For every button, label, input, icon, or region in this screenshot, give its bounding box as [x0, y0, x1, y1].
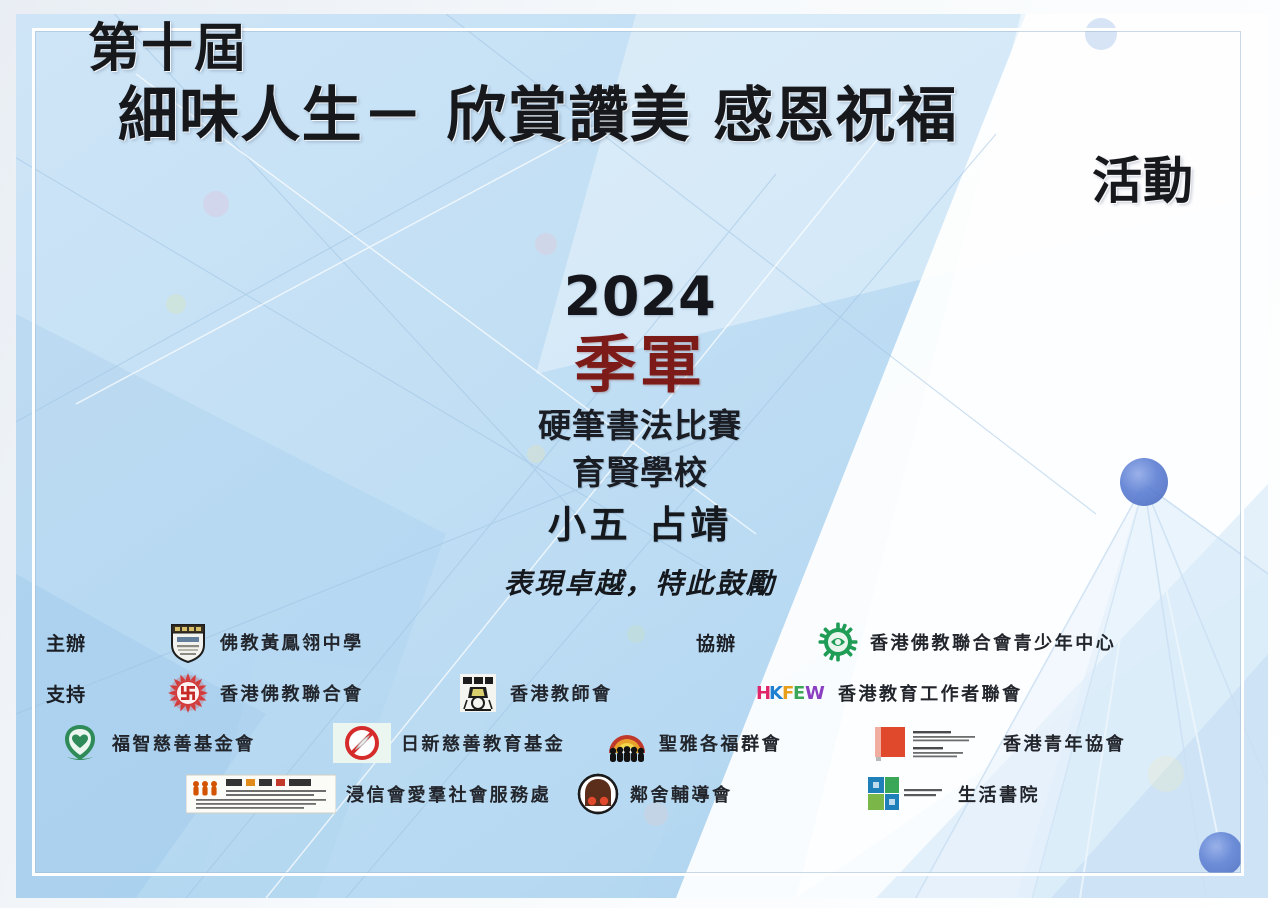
sponsor-logo-cell-hkfew: H K F E W 香港教育工作者聯會 — [756, 672, 1136, 714]
teachers-association-crest-logo — [456, 672, 500, 714]
sponsor-name-hkfyg: 香港青年協會 — [1003, 730, 1126, 756]
green-heart-shield-logo — [58, 722, 102, 764]
red-wheel-emblem-logo — [166, 672, 210, 714]
certificate-image: 第十屆 細味人生－ 欣賞讚美 感恩祝福 活動 2024 季軍 硬筆書法比賽 育賢… — [0, 0, 1280, 908]
sponsor-row-organizers: 主辦 佛教黃鳳 — [46, 616, 1236, 668]
headline-line-edition: 第十屆 — [88, 22, 1216, 77]
sponsor-role-organizer-cell: 主辦 — [46, 629, 166, 656]
svg-text:W: W — [805, 683, 825, 704]
headline-line-theme: 細味人生－ 欣賞讚美 感恩祝福 — [118, 85, 1216, 149]
sponsor-row-supporters-2: 福智慈善基金會 日新慈善教育基金 — [46, 718, 1236, 768]
sponsor-logo-cell-bwfl: 佛教黃鳳翎中學 — [166, 621, 266, 663]
sponsor-name-hkbayc: 香港佛教聯合會青少年中心 — [870, 629, 1116, 655]
sponsor-role-coorganizer-label: 協辦 — [696, 629, 754, 656]
sponsor-name-hkba: 香港佛教聯合會 — [220, 680, 364, 706]
sponsor-name-sjs: 聖雅各福群會 — [659, 730, 782, 756]
sponsor-logo-cell-hkta: 香港教師會 — [456, 672, 756, 714]
sponsor-name-bwfl: 佛教黃鳳翎中學 — [220, 629, 364, 655]
sponsor-name-hkta: 香港教師會 — [510, 680, 613, 706]
red-ring-slash-logo — [333, 722, 391, 764]
shield-crest-logo — [166, 621, 210, 663]
svg-text:E: E — [793, 683, 805, 704]
sponsor-name-naac: 鄰舍輔導會 — [630, 781, 733, 807]
sponsor-name-yat-sun: 日新慈善教育基金 — [401, 730, 565, 756]
award-block: 2024 季軍 硬筆書法比賽 育賢學校 小五 占靖 表現卓越，特此鼓勵 — [0, 270, 1280, 602]
award-school-name: 育賢學校 — [0, 450, 1280, 497]
certificate-headline: 第十屆 細味人生－ 欣賞讚美 感恩祝福 活動 — [0, 22, 1280, 208]
award-winner-name: 小五 占靖 — [0, 499, 1280, 552]
hkfew-wordmark-logo: H K F E W — [756, 672, 828, 714]
sponsor-logo-cell-bokss: 浸信會愛羣社會服務處 — [186, 773, 576, 815]
headline-line-activity: 活動 — [64, 155, 1216, 208]
sponsor-role-organizer-label: 主辦 — [46, 629, 104, 656]
sponsor-name-bwmf: 福智慈善基金會 — [112, 730, 256, 756]
award-rank: 季軍 — [0, 330, 1280, 399]
sponsor-row-supporters-3: 浸信會愛羣社會服務處 鄰舍輔導會 — [46, 768, 1236, 820]
sponsor-name-bokss: 浸信會愛羣社會服務處 — [346, 781, 551, 807]
sponsor-role-support-cell: 支持 — [46, 680, 166, 707]
sponsor-logo-cell-bwmf: 福智慈善基金會 — [58, 722, 333, 764]
hkfyg-red-square-logo — [873, 722, 993, 764]
sponsor-logo-cell-hkbayc: 香港佛教聯合會青少年中心 — [816, 621, 1236, 663]
award-year: 2024 — [0, 270, 1280, 324]
award-event-name: 硬筆書法比賽 — [0, 403, 1280, 450]
sponsor-logo-cell-sjs: 聖雅各福群會 — [605, 722, 873, 764]
sponsor-logo-cell-school-of-everyday-life: 生活書院 — [866, 773, 1186, 815]
sponsor-logo-cell-yat-sun: 日新慈善教育基金 — [333, 722, 605, 764]
sponsor-row-supporters-1: 支持 — [46, 668, 1236, 718]
neighbourhood-advice-circle-logo — [576, 773, 620, 815]
baptist-oi-kwan-banner-logo — [186, 773, 336, 815]
sponsor-name-school-of-everyday-life: 生活書院 — [958, 781, 1040, 807]
sponsor-role-support-label: 支持 — [46, 680, 104, 707]
sponsor-logo-cell-hkfyg: 香港青年協會 — [873, 722, 1203, 764]
green-gear-lotus-logo — [816, 621, 860, 663]
sponsor-name-hkfew: 香港教育工作者聯會 — [838, 680, 1023, 706]
sponsor-logo-cell-naac: 鄰舍輔導會 — [576, 773, 866, 815]
sponsor-role-coorganizer-cell: 協辦 — [696, 629, 816, 656]
award-remark: 表現卓越，特此鼓勵 — [0, 562, 1280, 602]
green-blue-tiles-logo — [866, 773, 948, 815]
rainbow-arch-figures-logo — [605, 722, 649, 764]
sponsor-section: 主辦 佛教黃鳳 — [46, 616, 1236, 820]
sponsor-logo-cell-hkba: 香港佛教聯合會 — [166, 672, 456, 714]
